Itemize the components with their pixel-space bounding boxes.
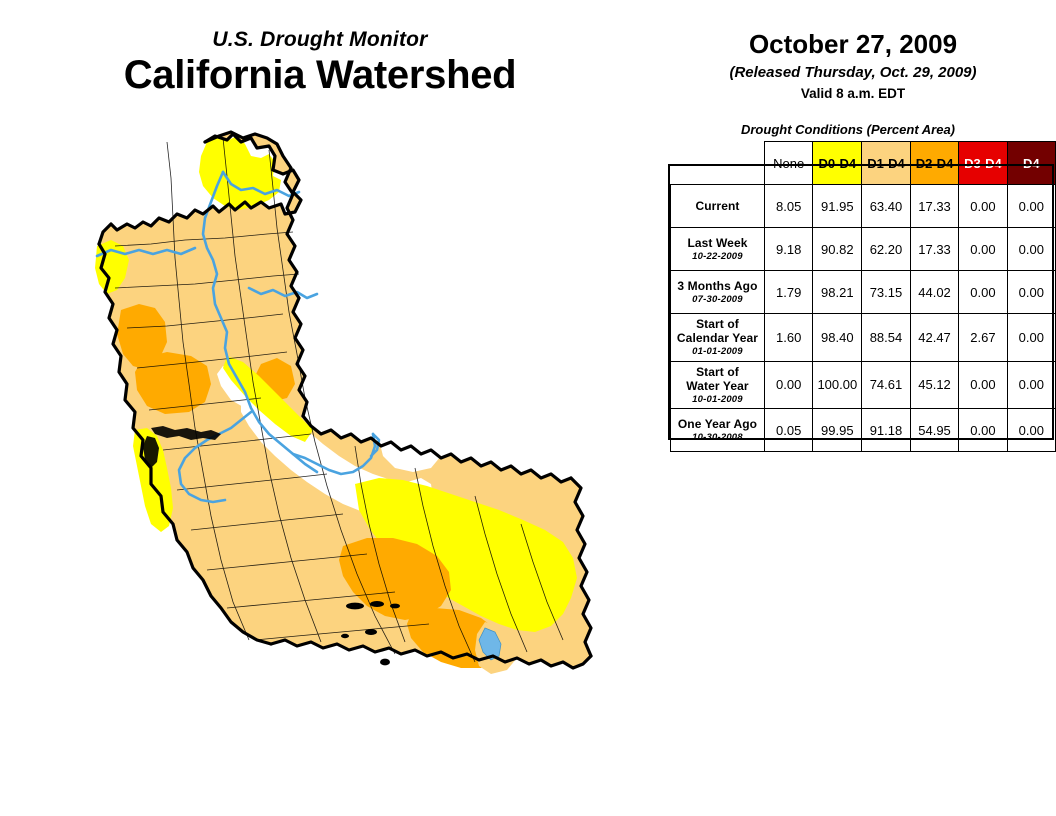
title-block: U.S. Drought Monitor California Watershe… bbox=[0, 28, 640, 98]
table-row-date: 10-30-2008 bbox=[674, 432, 761, 443]
date-block: October 27, 2009 (Released Thursday, Oct… bbox=[650, 30, 1056, 103]
table-corner-cell bbox=[671, 142, 765, 185]
table-cell: 0.00 bbox=[1007, 409, 1055, 452]
table-cell: 88.54 bbox=[862, 314, 911, 362]
table-cell: 44.02 bbox=[910, 271, 959, 314]
table-cell: 99.95 bbox=[813, 409, 862, 452]
table-row: Current8.0591.9563.4017.330.000.00 bbox=[671, 185, 1056, 228]
table-cell: 0.00 bbox=[1007, 185, 1055, 228]
table-body: Current8.0591.9563.4017.330.000.00Last W… bbox=[671, 185, 1056, 452]
table-row-label: One Year Ago10-30-2008 bbox=[671, 409, 765, 452]
table-cell: 9.18 bbox=[764, 228, 813, 271]
table-row-date: 01-01-2009 bbox=[674, 346, 761, 357]
table-cell: 98.21 bbox=[813, 271, 862, 314]
column-header-d3d4: D3-D4 bbox=[959, 142, 1007, 185]
table-row: 3 Months Ago07-30-20091.7998.2173.1544.0… bbox=[671, 271, 1056, 314]
table-cell: 0.00 bbox=[1007, 314, 1055, 362]
table-cell: 0.00 bbox=[959, 361, 1007, 409]
table-cell: 0.00 bbox=[1007, 228, 1055, 271]
table-row-label: Current bbox=[671, 185, 765, 228]
column-header-none: None bbox=[764, 142, 813, 185]
table-cell: 2.67 bbox=[959, 314, 1007, 362]
page-title: California Watershed bbox=[0, 53, 640, 98]
table-caption: Drought Conditions (Percent Area) bbox=[650, 122, 1046, 137]
table-row: Start ofWater Year10-01-20090.00100.0074… bbox=[671, 361, 1056, 409]
table-cell: 74.61 bbox=[862, 361, 911, 409]
table-cell: 0.00 bbox=[959, 228, 1007, 271]
table-cell: 1.79 bbox=[764, 271, 813, 314]
table-cell: 63.40 bbox=[862, 185, 911, 228]
table-cell: 91.95 bbox=[813, 185, 862, 228]
column-header-d2d4: D2-D4 bbox=[910, 142, 959, 185]
table-row-date: 10-01-2009 bbox=[674, 394, 761, 405]
drought-monitor-suptitle: U.S. Drought Monitor bbox=[0, 28, 640, 51]
map-date: October 27, 2009 bbox=[650, 30, 1056, 60]
table-row: Start ofCalendar Year01-01-20091.6098.40… bbox=[671, 314, 1056, 362]
drought-map[interactable] bbox=[55, 128, 635, 808]
info-panel: October 27, 2009 (Released Thursday, Oct… bbox=[650, 0, 1056, 816]
drought-conditions-table: None D0-D4 D1-D4 D2-D4 D3-D4 D4 Current8… bbox=[670, 141, 1056, 452]
table-row-date: 10-22-2009 bbox=[674, 251, 761, 262]
table-cell: 0.00 bbox=[959, 409, 1007, 452]
table-cell: 100.00 bbox=[813, 361, 862, 409]
column-header-d0d4: D0-D4 bbox=[813, 142, 862, 185]
table-row: One Year Ago10-30-20080.0599.9591.1854.9… bbox=[671, 409, 1056, 452]
table-cell: 62.20 bbox=[862, 228, 911, 271]
table-row-date: 07-30-2009 bbox=[674, 294, 761, 305]
release-date: (Released Thursday, Oct. 29, 2009) bbox=[650, 63, 1056, 83]
table-cell: 98.40 bbox=[813, 314, 862, 362]
table-cell: 0.00 bbox=[1007, 361, 1055, 409]
table-cell: 54.95 bbox=[910, 409, 959, 452]
table-cell: 91.18 bbox=[862, 409, 911, 452]
table-cell: 45.12 bbox=[910, 361, 959, 409]
table-cell: 0.00 bbox=[1007, 271, 1055, 314]
column-header-d4: D4 bbox=[1007, 142, 1055, 185]
table-row-label: Start ofCalendar Year01-01-2009 bbox=[671, 314, 765, 362]
table-cell: 17.33 bbox=[910, 185, 959, 228]
map-drought-regions bbox=[95, 132, 591, 674]
table-header-row: None D0-D4 D1-D4 D2-D4 D3-D4 D4 bbox=[671, 142, 1056, 185]
table-row: Last Week10-22-20099.1890.8262.2017.330.… bbox=[671, 228, 1056, 271]
table-row-label: Start ofWater Year10-01-2009 bbox=[671, 361, 765, 409]
table-cell: 17.33 bbox=[910, 228, 959, 271]
valid-time: Valid 8 a.m. EDT bbox=[650, 85, 1056, 103]
table-cell: 1.60 bbox=[764, 314, 813, 362]
map-panel: U.S. Drought Monitor California Watershe… bbox=[0, 0, 650, 816]
table-cell: 42.47 bbox=[910, 314, 959, 362]
column-header-d1d4: D1-D4 bbox=[862, 142, 911, 185]
table-row-label: 3 Months Ago07-30-2009 bbox=[671, 271, 765, 314]
table-cell: 8.05 bbox=[764, 185, 813, 228]
drought-map-svg[interactable] bbox=[55, 128, 635, 808]
table-row-label: Last Week10-22-2009 bbox=[671, 228, 765, 271]
table-cell: 0.00 bbox=[959, 185, 1007, 228]
table-cell: 90.82 bbox=[813, 228, 862, 271]
table-cell: 73.15 bbox=[862, 271, 911, 314]
table-cell: 0.00 bbox=[959, 271, 1007, 314]
table-cell: 0.00 bbox=[764, 361, 813, 409]
table-cell: 0.05 bbox=[764, 409, 813, 452]
